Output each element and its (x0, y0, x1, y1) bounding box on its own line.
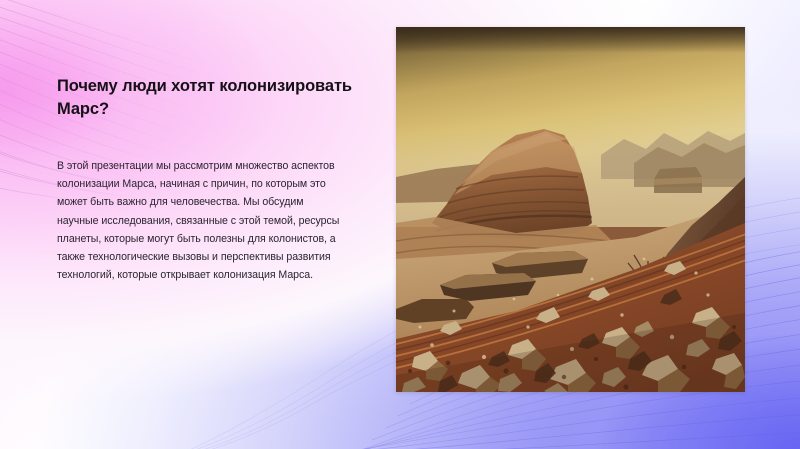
slide-body-text: В этой презентации мы рассмотрим множест… (57, 157, 347, 285)
slide-title: Почему люди хотят колонизировать Марс? (57, 75, 367, 122)
presentation-slide: Почему люди хотят колонизировать Марс? В… (0, 0, 800, 449)
mars-landscape-image (396, 27, 745, 392)
